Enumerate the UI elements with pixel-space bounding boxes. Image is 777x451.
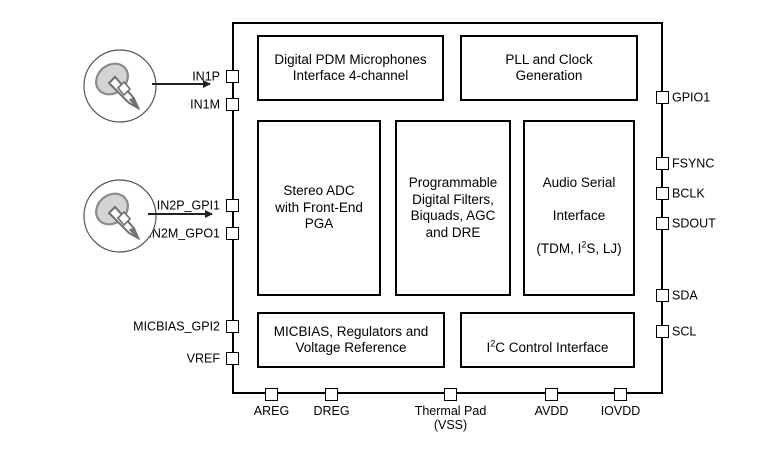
pin-label-dreg: DREG xyxy=(313,404,349,418)
asi-line-3-pre: (TDM, I xyxy=(536,241,581,256)
pin-pad-in2p-gpi1[interactable] xyxy=(226,199,239,212)
pin-pad-gpio1[interactable] xyxy=(656,91,669,104)
signal-arrow-mic2 xyxy=(148,213,212,215)
block-audio-serial-interface: Audio Serial Interface (TDM, I2S, LJ) xyxy=(523,120,635,296)
pin-pad-iovdd[interactable] xyxy=(614,388,627,401)
block-diagram-canvas: Digital PDM Microphones Interface 4-chan… xyxy=(0,0,777,451)
pin-pad-areg[interactable] xyxy=(265,388,278,401)
asi-line-2: Interface xyxy=(553,208,606,223)
pin-label-fsync: FSYNC xyxy=(672,157,714,170)
microphone-icon-2 xyxy=(82,178,158,254)
microphone-icon-1 xyxy=(82,48,158,124)
pin-pad-sdout[interactable] xyxy=(656,217,669,230)
pin-label-bclk: BCLK xyxy=(672,187,705,200)
block-pll-and-clock-generation: PLL and Clock Generation xyxy=(460,35,638,101)
pin-label-micbias-gpi2: MICBIAS_GPI2 xyxy=(133,320,220,333)
pin-pad-avdd[interactable] xyxy=(545,388,558,401)
pin-label-iovdd: IOVDD xyxy=(601,404,641,418)
pin-pad-in1m[interactable] xyxy=(226,98,239,111)
pin-label-sdout: SDOUT xyxy=(672,217,716,230)
pin-label-in2m-gpo1: IN2M_GPO1 xyxy=(148,227,220,240)
pin-label-sda: SDA xyxy=(672,289,698,302)
pin-pad-fsync[interactable] xyxy=(656,157,669,170)
block-programmable-digital-filters: Programmable Digital Filters, Biquads, A… xyxy=(395,120,511,296)
pin-label-scl: SCL xyxy=(672,325,696,338)
pin-pad-scl[interactable] xyxy=(656,325,669,338)
pin-pad-in2m-gpo1[interactable] xyxy=(226,227,239,240)
pin-pad-vref[interactable] xyxy=(226,352,239,365)
pin-label-in1m: IN1M xyxy=(190,98,220,111)
signal-arrow-mic1 xyxy=(152,83,210,85)
pin-label-thermal-pad: Thermal Pad (VSS) xyxy=(415,404,487,432)
i2c-label-post: C Control Interface xyxy=(495,340,608,355)
pin-label-gpio1: GPIO1 xyxy=(672,91,710,104)
block-micbias-regulators-voltage-reference: MICBIAS, Regulators and Voltage Referenc… xyxy=(257,312,445,368)
pin-label-areg: AREG xyxy=(254,404,289,418)
pin-label-avdd: AVDD xyxy=(535,404,569,418)
block-digital-pdm-microphones-interface: Digital PDM Microphones Interface 4-chan… xyxy=(257,35,444,101)
block-stereo-adc-with-front-end-pga: Stereo ADC with Front-End PGA xyxy=(257,120,381,296)
pin-pad-dreg[interactable] xyxy=(325,388,338,401)
pin-label-vref: VREF xyxy=(187,352,220,365)
pin-pad-thermal-pad[interactable] xyxy=(444,388,457,401)
pin-pad-micbias-gpi2[interactable] xyxy=(226,320,239,333)
pin-pad-in1p[interactable] xyxy=(226,70,239,83)
block-i2c-control-interface: I2C Control Interface xyxy=(460,312,635,368)
pin-pad-bclk[interactable] xyxy=(656,187,669,200)
pin-pad-sda[interactable] xyxy=(656,289,669,302)
asi-line-3-post: S, LJ) xyxy=(586,241,621,256)
asi-line-1: Audio Serial xyxy=(543,175,616,190)
